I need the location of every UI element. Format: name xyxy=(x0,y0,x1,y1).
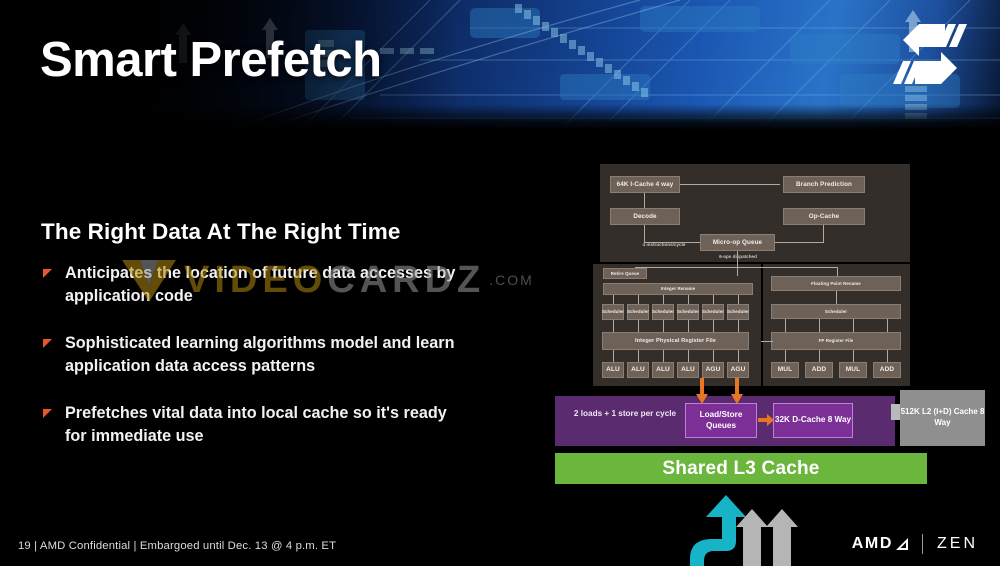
connector xyxy=(635,267,737,268)
connector xyxy=(737,267,837,268)
icache-block: 64K I-Cache 4 way xyxy=(610,176,680,193)
zen-logo-icon xyxy=(888,18,972,90)
slide-header-banner: Smart Prefetch xyxy=(0,0,1000,130)
connector xyxy=(688,350,689,362)
list-item-label: Sophisticated learning algorithms model … xyxy=(65,332,471,378)
connector xyxy=(644,242,700,243)
connector xyxy=(775,242,823,243)
connector xyxy=(638,295,639,304)
fp-exec-unit-add: ADD xyxy=(873,362,901,378)
connector xyxy=(823,225,824,243)
gray-arrow-icon xyxy=(736,509,768,566)
connector xyxy=(738,320,739,332)
connector xyxy=(785,319,786,332)
amd-arrow-mark-icon xyxy=(896,538,908,550)
l3-cache-block: Shared L3 Cache xyxy=(555,453,927,484)
load-store-queues-block: Load/Store Queues xyxy=(685,403,757,438)
integer-scheduler-block: Scheduler xyxy=(602,304,624,320)
ops-dispatched-label: 6-ops dispatched xyxy=(707,254,769,259)
integer-scheduler-block: Scheduler xyxy=(652,304,674,320)
connector xyxy=(785,350,786,362)
agu-to-lsq-arrow-icon xyxy=(730,378,744,404)
gray-arrow-icon xyxy=(766,509,798,566)
connector xyxy=(713,350,714,362)
integer-exec-unit-alu: ALU xyxy=(652,362,674,378)
zen-core-block-diagram: 64K I-Cache 4 way Branch Prediction Deco… xyxy=(555,164,985,504)
connector xyxy=(737,251,738,276)
connector xyxy=(713,320,714,332)
connector xyxy=(663,350,664,362)
fp-exec-unit-mul: MUL xyxy=(839,362,867,378)
connector xyxy=(836,291,837,304)
connector xyxy=(613,295,614,304)
zen-wordmark: ZEN xyxy=(937,535,978,553)
integer-scheduler-block: Scheduler xyxy=(727,304,749,320)
list-item-label: Anticipates the location of future data … xyxy=(65,262,471,308)
fp-exec-unit-mul: MUL xyxy=(771,362,799,378)
connector xyxy=(853,350,854,362)
list-item: Anticipates the location of future data … xyxy=(41,262,471,308)
section-heading: The Right Data At The Right Time xyxy=(41,219,400,245)
connector xyxy=(644,225,645,242)
connector xyxy=(613,320,614,332)
connector xyxy=(613,350,614,362)
integer-exec-unit-agu: AGU xyxy=(727,362,749,378)
connector xyxy=(819,319,820,332)
page-title: Smart Prefetch xyxy=(40,32,382,88)
list-item-label: Prefetches vital data into local cache s… xyxy=(65,402,471,448)
integer-exec-unit-alu: ALU xyxy=(627,362,649,378)
integer-exec-unit-alu: ALU xyxy=(602,362,624,378)
lsq-to-dcache-arrow-icon xyxy=(758,413,774,427)
integer-register-file-block: Integer Physical Register File xyxy=(602,332,749,350)
d-cache-block: 32K D-Cache 8 Way xyxy=(773,403,853,438)
bullet-list: Anticipates the location of future data … xyxy=(41,262,471,472)
integer-exec-unit-alu: ALU xyxy=(677,362,699,378)
footer-divider xyxy=(922,534,923,554)
fp-register-file-block: FP Register File xyxy=(771,332,901,350)
connector xyxy=(887,350,888,362)
connector xyxy=(738,350,739,362)
connector xyxy=(819,350,820,362)
connector xyxy=(638,350,639,362)
loads-stores-per-cycle-label: 2 loads + 1 store per cycle xyxy=(569,408,681,419)
amd-wordmark: AMD xyxy=(852,535,893,553)
connector xyxy=(638,320,639,332)
connector xyxy=(713,295,714,304)
micro-op-queue-block: Micro-op Queue xyxy=(700,234,775,251)
fp-scheduler-block: Scheduler xyxy=(771,304,901,319)
teal-curved-arrow-icon xyxy=(690,495,746,566)
decode-block: Decode xyxy=(610,208,680,225)
connector xyxy=(853,319,854,332)
integer-exec-unit-agu: AGU xyxy=(702,362,724,378)
integer-scheduler-block: Scheduler xyxy=(702,304,724,320)
l2-cache-block: 512K L2 (I+D) Cache 8 Way xyxy=(900,390,985,446)
connector xyxy=(644,193,645,208)
connector xyxy=(688,295,689,304)
op-cache-block: Op-Cache xyxy=(783,208,865,225)
integer-scheduler-block: Scheduler xyxy=(627,304,649,320)
bullet-triangle-icon xyxy=(43,269,52,278)
agu-to-lsq-arrow-icon xyxy=(695,378,709,404)
fp-exec-unit-add: ADD xyxy=(805,362,833,378)
integer-scheduler-block: Scheduler xyxy=(677,304,699,320)
fp-rename-block: Floating Point Rename xyxy=(771,276,901,291)
bullet-triangle-icon xyxy=(43,339,52,348)
header-bottom-fade xyxy=(0,104,1000,130)
connector xyxy=(761,341,773,342)
branch-prediction-block: Branch Prediction xyxy=(783,176,865,193)
list-item: Sophisticated learning algorithms model … xyxy=(41,332,471,378)
connector xyxy=(738,295,739,304)
retire-queue-block: Retire Queue xyxy=(603,268,647,279)
bullet-triangle-icon xyxy=(43,409,52,418)
integer-rename-block: Integer Rename xyxy=(603,283,753,295)
list-item: Prefetches vital data into local cache s… xyxy=(41,402,471,448)
footer-confidential-text: 19 | AMD Confidential | Embargoed until … xyxy=(18,540,336,552)
connector xyxy=(663,320,664,332)
connector xyxy=(688,320,689,332)
connector xyxy=(887,319,888,332)
connector xyxy=(663,295,664,304)
amd-zen-footer-logo: AMD ZEN xyxy=(852,534,978,554)
bandwidth-arrows-group xyxy=(690,495,810,566)
connector xyxy=(680,184,780,185)
watermark-text-suffix: .COM xyxy=(489,272,534,288)
